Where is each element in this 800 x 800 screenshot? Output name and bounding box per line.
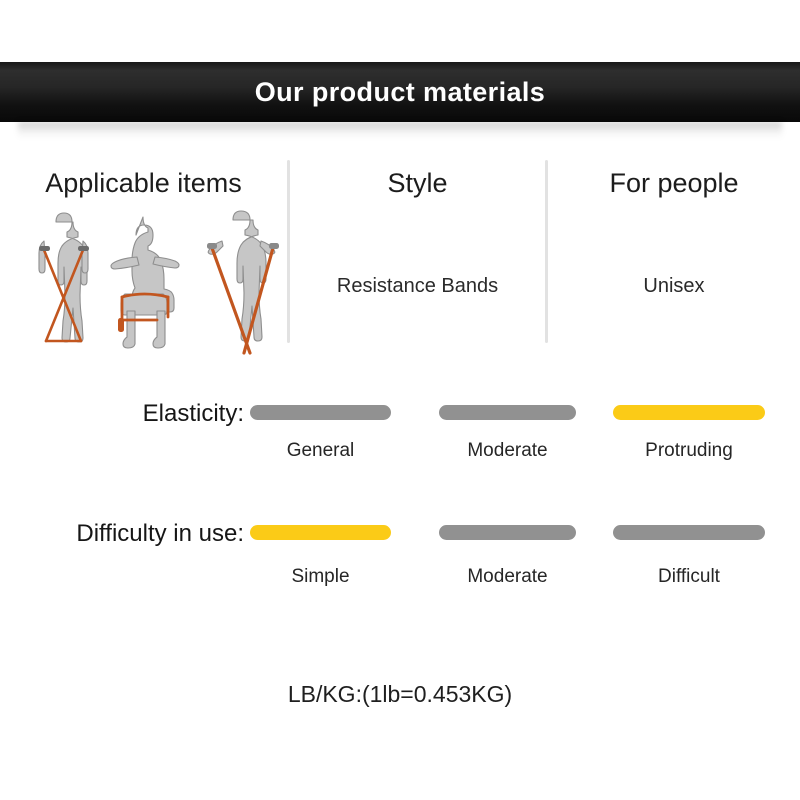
header-banner: Our product materials: [0, 62, 800, 122]
exercise-figures-illustration: [24, 205, 286, 360]
elasticity-bar-moderate: [439, 405, 576, 420]
difficulty-caption-difficult: Difficult: [613, 566, 765, 588]
product-materials-infographic: Our product materials Applicable items S…: [0, 0, 800, 800]
banner-shadow: [18, 122, 782, 138]
column-heading-applicable-items: Applicable items: [0, 168, 287, 199]
column-heading-for-people: For people: [548, 168, 800, 199]
difficulty-bar-simple: [250, 525, 391, 540]
column-value-style: Resistance Bands: [290, 275, 545, 298]
column-heading-style: Style: [290, 168, 545, 199]
elasticity-caption-protruding: Protruding: [613, 440, 765, 462]
rating-label-elasticity: Elasticity:: [0, 400, 244, 428]
elasticity-bar-protruding: [613, 405, 765, 420]
elasticity-caption-general: General: [250, 440, 391, 462]
difficulty-bar-moderate: [439, 525, 576, 540]
difficulty-caption-simple: Simple: [250, 566, 391, 588]
page-title: Our product materials: [255, 77, 545, 108]
difficulty-caption-moderate: Moderate: [439, 566, 576, 588]
difficulty-bar-difficult: [613, 525, 765, 540]
rating-label-difficulty: Difficulty in use:: [0, 520, 244, 548]
unit-conversion-note: LB/KG:(1lb=0.453KG): [0, 681, 800, 708]
elasticity-bar-general: [250, 405, 391, 420]
column-value-for-people: Unisex: [548, 275, 800, 298]
elasticity-caption-moderate: Moderate: [439, 440, 576, 462]
